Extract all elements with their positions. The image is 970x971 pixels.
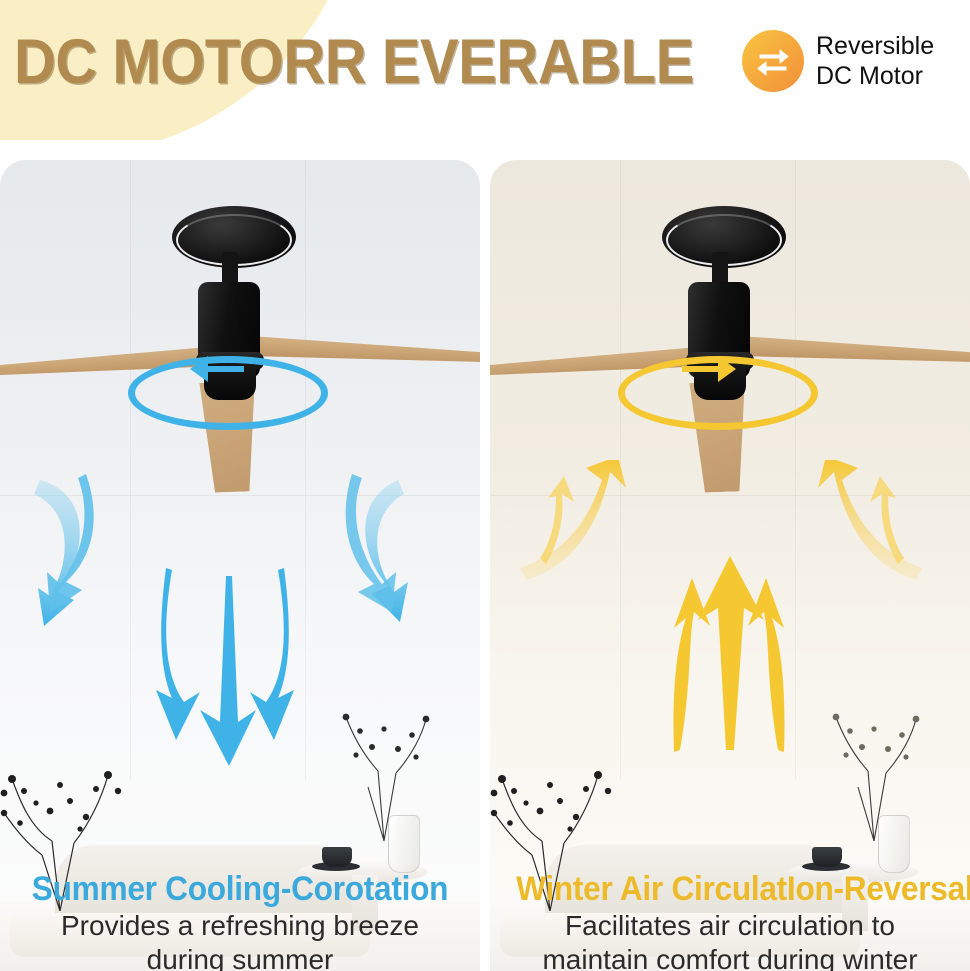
dried-plant-right: [800, 691, 950, 841]
caption-summer: Summer Cooling-Corotation Provides a ref…: [0, 869, 480, 971]
caption-description-line1: Facilitates air circulation to: [500, 909, 960, 943]
rotation-arrow-right-icon: [676, 350, 740, 392]
rotation-arrow-left-icon: [186, 350, 250, 392]
caption-description-line1: Provides a refreshing breeze: [10, 909, 470, 943]
caption-description-line2: maintain comfort during winter: [500, 943, 960, 971]
dried-plant-right: [310, 691, 460, 841]
product-feature-image: DC MOTORR EVERABLE Reversible DC Motor: [0, 0, 970, 971]
reversible-dc-motor-badge: Reversible DC Motor: [742, 30, 934, 92]
panel-winter: Winter Air CirculatIon-Reversal Facilita…: [490, 160, 970, 971]
panel-summer: Summer Cooling-Corotation Provides a ref…: [0, 160, 480, 971]
airflow-arrow-side: [818, 460, 922, 580]
ceiling-fan-winter: [490, 160, 970, 490]
reversible-arrows-icon: [742, 30, 804, 92]
airflow-arrow-side: [520, 460, 626, 580]
caption-winter: Winter Air CirculatIon-Reversal Facilita…: [490, 869, 970, 971]
caption-description-line2: during summer: [10, 943, 470, 971]
caption-title: Summer Cooling-Corotation: [26, 869, 454, 909]
ceiling-fan-summer: [0, 160, 480, 490]
badge-label-line1: Reversible: [816, 31, 934, 61]
coffee-cup: [322, 847, 352, 867]
badge-label: Reversible DC Motor: [816, 31, 934, 91]
page-title: DC MOTORR EVERABLE: [14, 26, 658, 98]
caption-title: Winter Air CirculatIon-Reversal: [516, 869, 944, 909]
coffee-cup: [812, 847, 842, 867]
comparison-panels: Summer Cooling-Corotation Provides a ref…: [0, 160, 970, 971]
header-banner: DC MOTORR EVERABLE Reversible DC Motor: [0, 0, 970, 140]
badge-label-line2: DC Motor: [816, 61, 934, 91]
